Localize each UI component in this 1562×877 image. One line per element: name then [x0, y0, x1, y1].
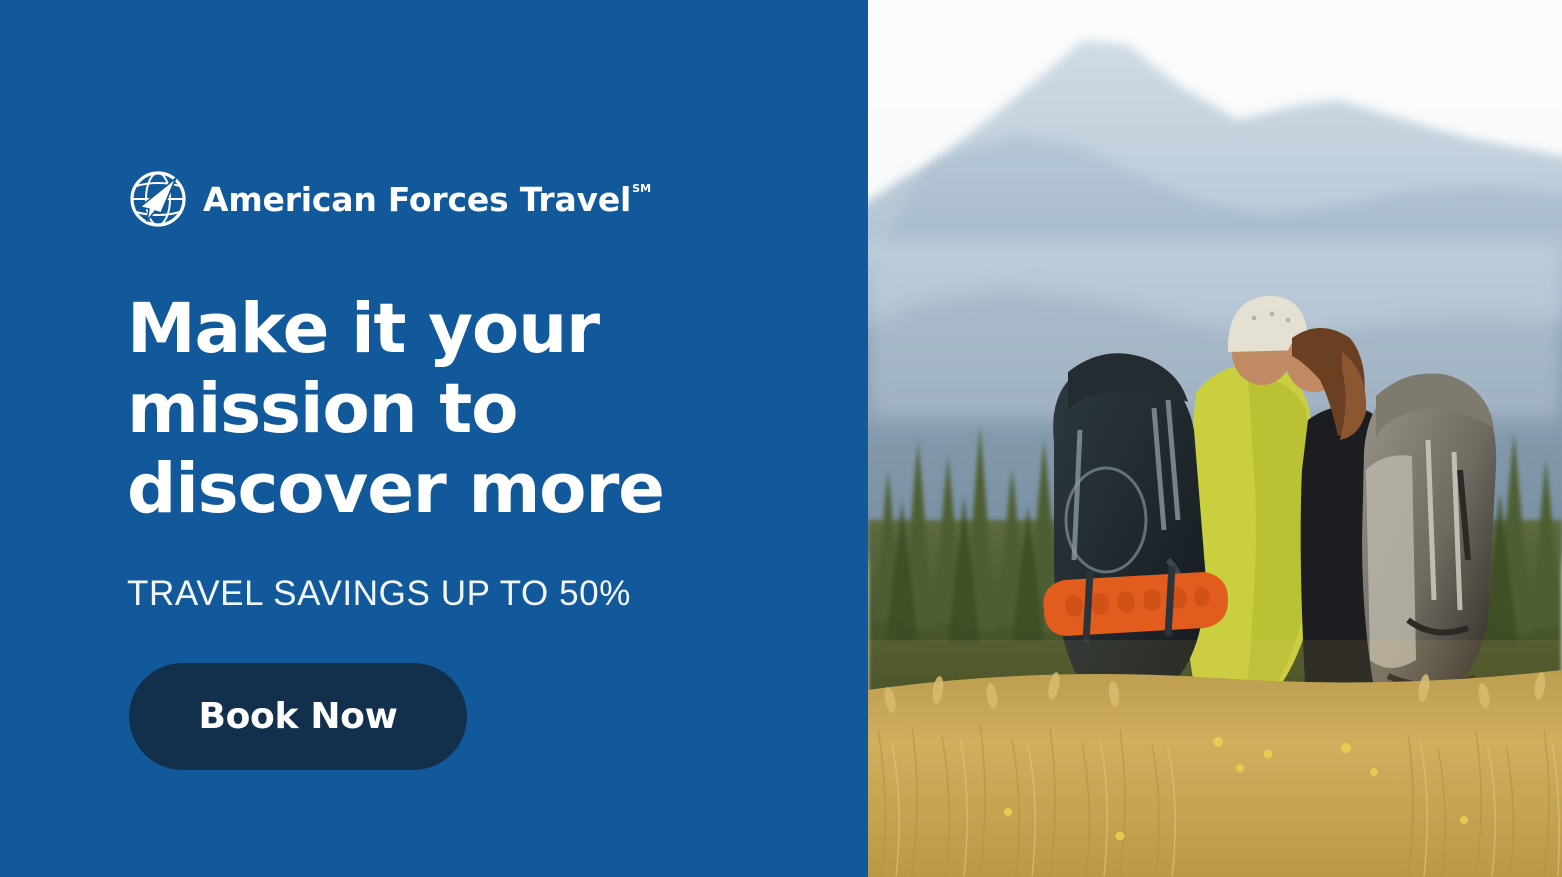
- page-title: Make it your mission to discover more: [127, 289, 747, 529]
- service-mark: SM: [632, 182, 651, 195]
- book-now-button[interactable]: Book Now: [129, 663, 467, 770]
- globe-compass-arrow-icon: [127, 168, 189, 230]
- headline-line-3: discover more: [127, 449, 747, 529]
- content-panel: American Forces TravelSM Make it your mi…: [0, 0, 868, 877]
- hero-photo: [868, 0, 1562, 877]
- promo-banner: American Forces TravelSM Make it your mi…: [0, 0, 1562, 877]
- panel-content: American Forces TravelSM Make it your mi…: [127, 0, 767, 877]
- headline-line-2: mission to: [127, 369, 747, 449]
- subheadline: TRAVEL SAVINGS UP TO 50%: [127, 573, 631, 615]
- brand-wordmark: American Forces TravelSM: [203, 183, 650, 216]
- headline-line-1: Make it your: [127, 289, 747, 369]
- brand-logo[interactable]: American Forces TravelSM: [127, 163, 650, 235]
- wordmark-text: American Forces Travel: [203, 180, 631, 219]
